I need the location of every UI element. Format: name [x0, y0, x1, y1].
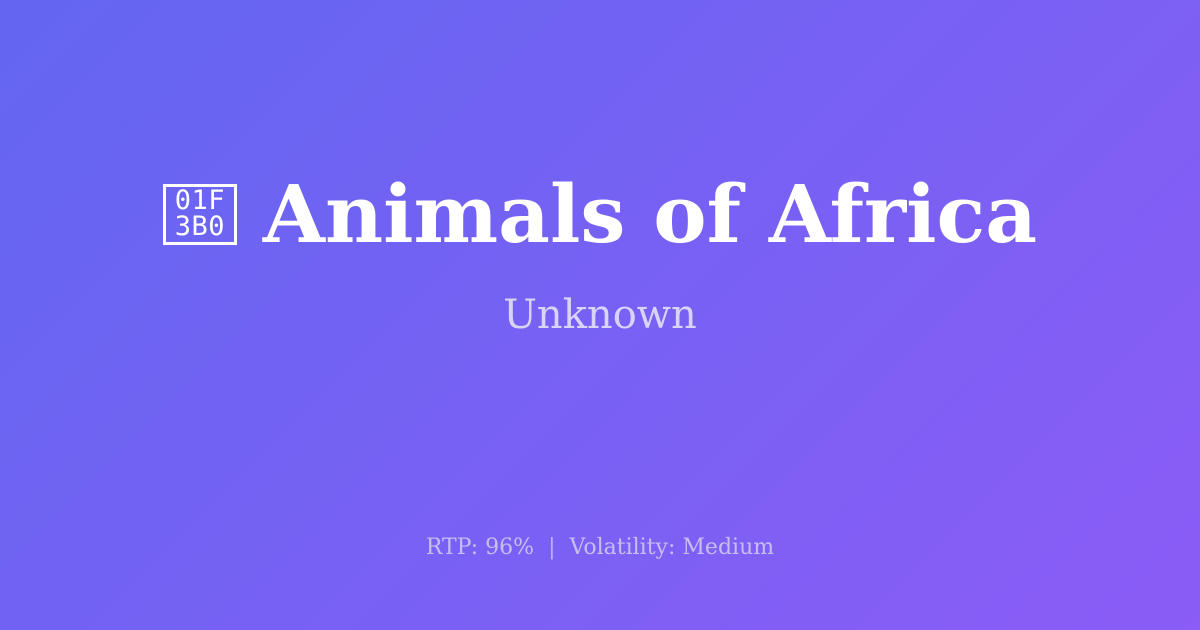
volatility-value: Medium [682, 535, 774, 560]
rtp-label: RTP: [426, 535, 478, 560]
game-preview-card: 01F 3B0 Animals of Africa Unknown RTP: 9… [0, 0, 1200, 630]
volatility-label: Volatility: [570, 535, 676, 560]
slot-machine-icon: 01F 3B0 [163, 184, 237, 245]
title-row: 01F 3B0 Animals of Africa [163, 171, 1037, 257]
meta-separator: | [541, 535, 562, 560]
game-meta-line: RTP: 96% | Volatility: Medium [0, 534, 1200, 562]
codepoint-hex-row-lower: 3B0 [175, 214, 225, 240]
hero-section: 01F 3B0 Animals of Africa Unknown [0, 0, 1200, 510]
rtp-value: 96% [485, 535, 534, 560]
game-provider: Unknown [503, 291, 697, 339]
game-title: Animals of Africa [263, 171, 1037, 257]
